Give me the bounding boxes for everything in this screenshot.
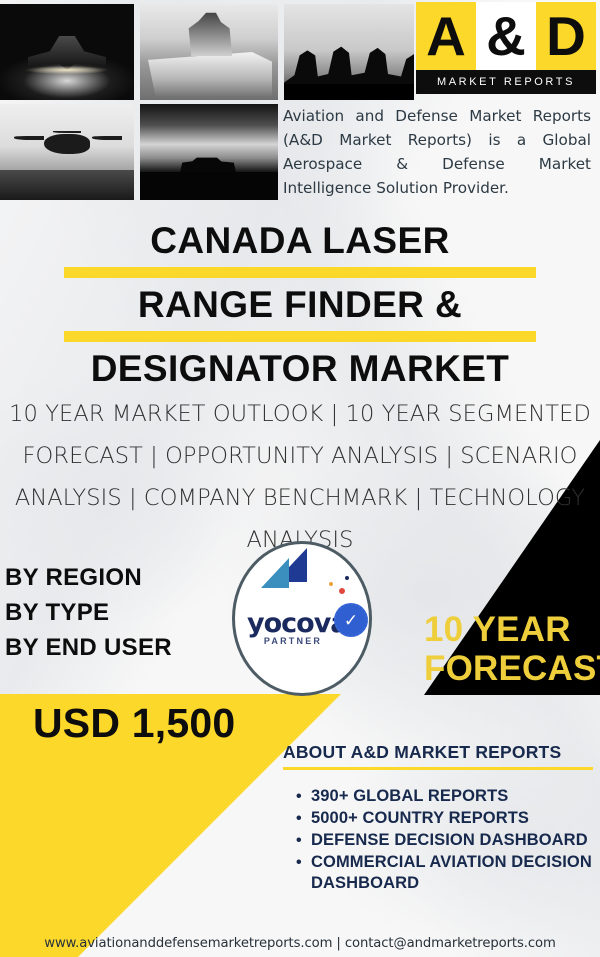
logo-letter-d: D bbox=[536, 2, 596, 70]
title-line-3: DESIGNATOR MARKET bbox=[0, 346, 600, 392]
report-subtitle: 10 YEAR MARKET OUTLOOK | 10 YEAR SEGMENT… bbox=[8, 393, 592, 561]
logo-letter-a: A bbox=[416, 2, 476, 70]
soldiers-silhouette-photo bbox=[284, 4, 414, 100]
logo-letter-ampersand: & bbox=[476, 2, 536, 70]
yocova-sparkle-red-icon bbox=[339, 588, 345, 594]
about-section: ABOUT A&D MARKET REPORTS 390+ GLOBAL REP… bbox=[283, 742, 595, 895]
yocova-sparkle-navy-icon bbox=[345, 576, 349, 580]
logo-tagline-text: MARKET REPORTS bbox=[437, 76, 575, 88]
about-bullet-commercial-dashboard: COMMERCIAL AVIATION DECISION DASHBOARD bbox=[311, 852, 595, 894]
yocova-partner-badge: yocova PARTNER ✓ bbox=[232, 541, 372, 696]
military-helicopter-photo bbox=[0, 104, 134, 200]
segmentation-item-type: BY TYPE bbox=[5, 595, 172, 630]
about-bullet-list: 390+ GLOBAL REPORTS 5000+ COUNTRY REPORT… bbox=[283, 786, 595, 894]
logo-tagline-bar: MARKET REPORTS bbox=[416, 70, 596, 94]
company-intro-paragraph: Aviation and Defense Market Reports (A&D… bbox=[283, 104, 591, 200]
about-bullet-global-reports: 390+ GLOBAL REPORTS bbox=[311, 786, 595, 807]
about-bullet-defense-dashboard: DEFENSE DECISION DASHBOARD bbox=[311, 830, 595, 851]
segmentation-list: BY REGION BY TYPE BY END USER bbox=[5, 560, 172, 665]
title-line-2: RANGE FINDER & bbox=[0, 282, 600, 328]
about-heading-underline bbox=[283, 767, 593, 770]
naval-warship-photo bbox=[140, 4, 278, 100]
ad-market-reports-logo: A & D MARKET REPORTS bbox=[416, 2, 596, 94]
report-title-block: CANADA LASER RANGE FINDER & DESIGNATOR M… bbox=[0, 218, 600, 392]
logo-letter-blocks: A & D bbox=[416, 2, 596, 70]
yocova-triangle-light-icon bbox=[261, 558, 289, 588]
verified-seal-icon: ✓ bbox=[334, 603, 368, 637]
forecast-line-1: 10 YEAR bbox=[424, 610, 600, 649]
title-rule-top bbox=[64, 267, 536, 278]
yocova-wordmark: yocova bbox=[247, 608, 339, 639]
footer-contact-text: www.aviationanddefensemarketreports.com … bbox=[44, 936, 555, 951]
yocova-sparkle-orange-icon bbox=[329, 582, 333, 586]
title-rule-bottom bbox=[64, 331, 536, 342]
segmentation-item-end-user: BY END USER bbox=[5, 630, 172, 665]
title-line-1: CANADA LASER bbox=[0, 218, 600, 264]
fighter-jet-photo bbox=[0, 4, 134, 100]
forecast-badge: 10 YEAR FORECAST bbox=[424, 610, 600, 688]
checkmark-icon: ✓ bbox=[344, 612, 358, 629]
yocova-partner-label: PARTNER bbox=[247, 636, 339, 646]
forecast-line-2: FORECAST bbox=[424, 649, 600, 688]
footer-bar: www.aviationanddefensemarketreports.com … bbox=[0, 929, 600, 957]
about-bullet-country-reports: 5000+ COUNTRY REPORTS bbox=[311, 808, 595, 829]
price-value: USD 1,500 bbox=[33, 700, 235, 747]
segmentation-item-region: BY REGION bbox=[5, 560, 172, 595]
about-heading: ABOUT A&D MARKET REPORTS bbox=[283, 742, 595, 767]
armored-vehicle-photo bbox=[140, 104, 278, 200]
